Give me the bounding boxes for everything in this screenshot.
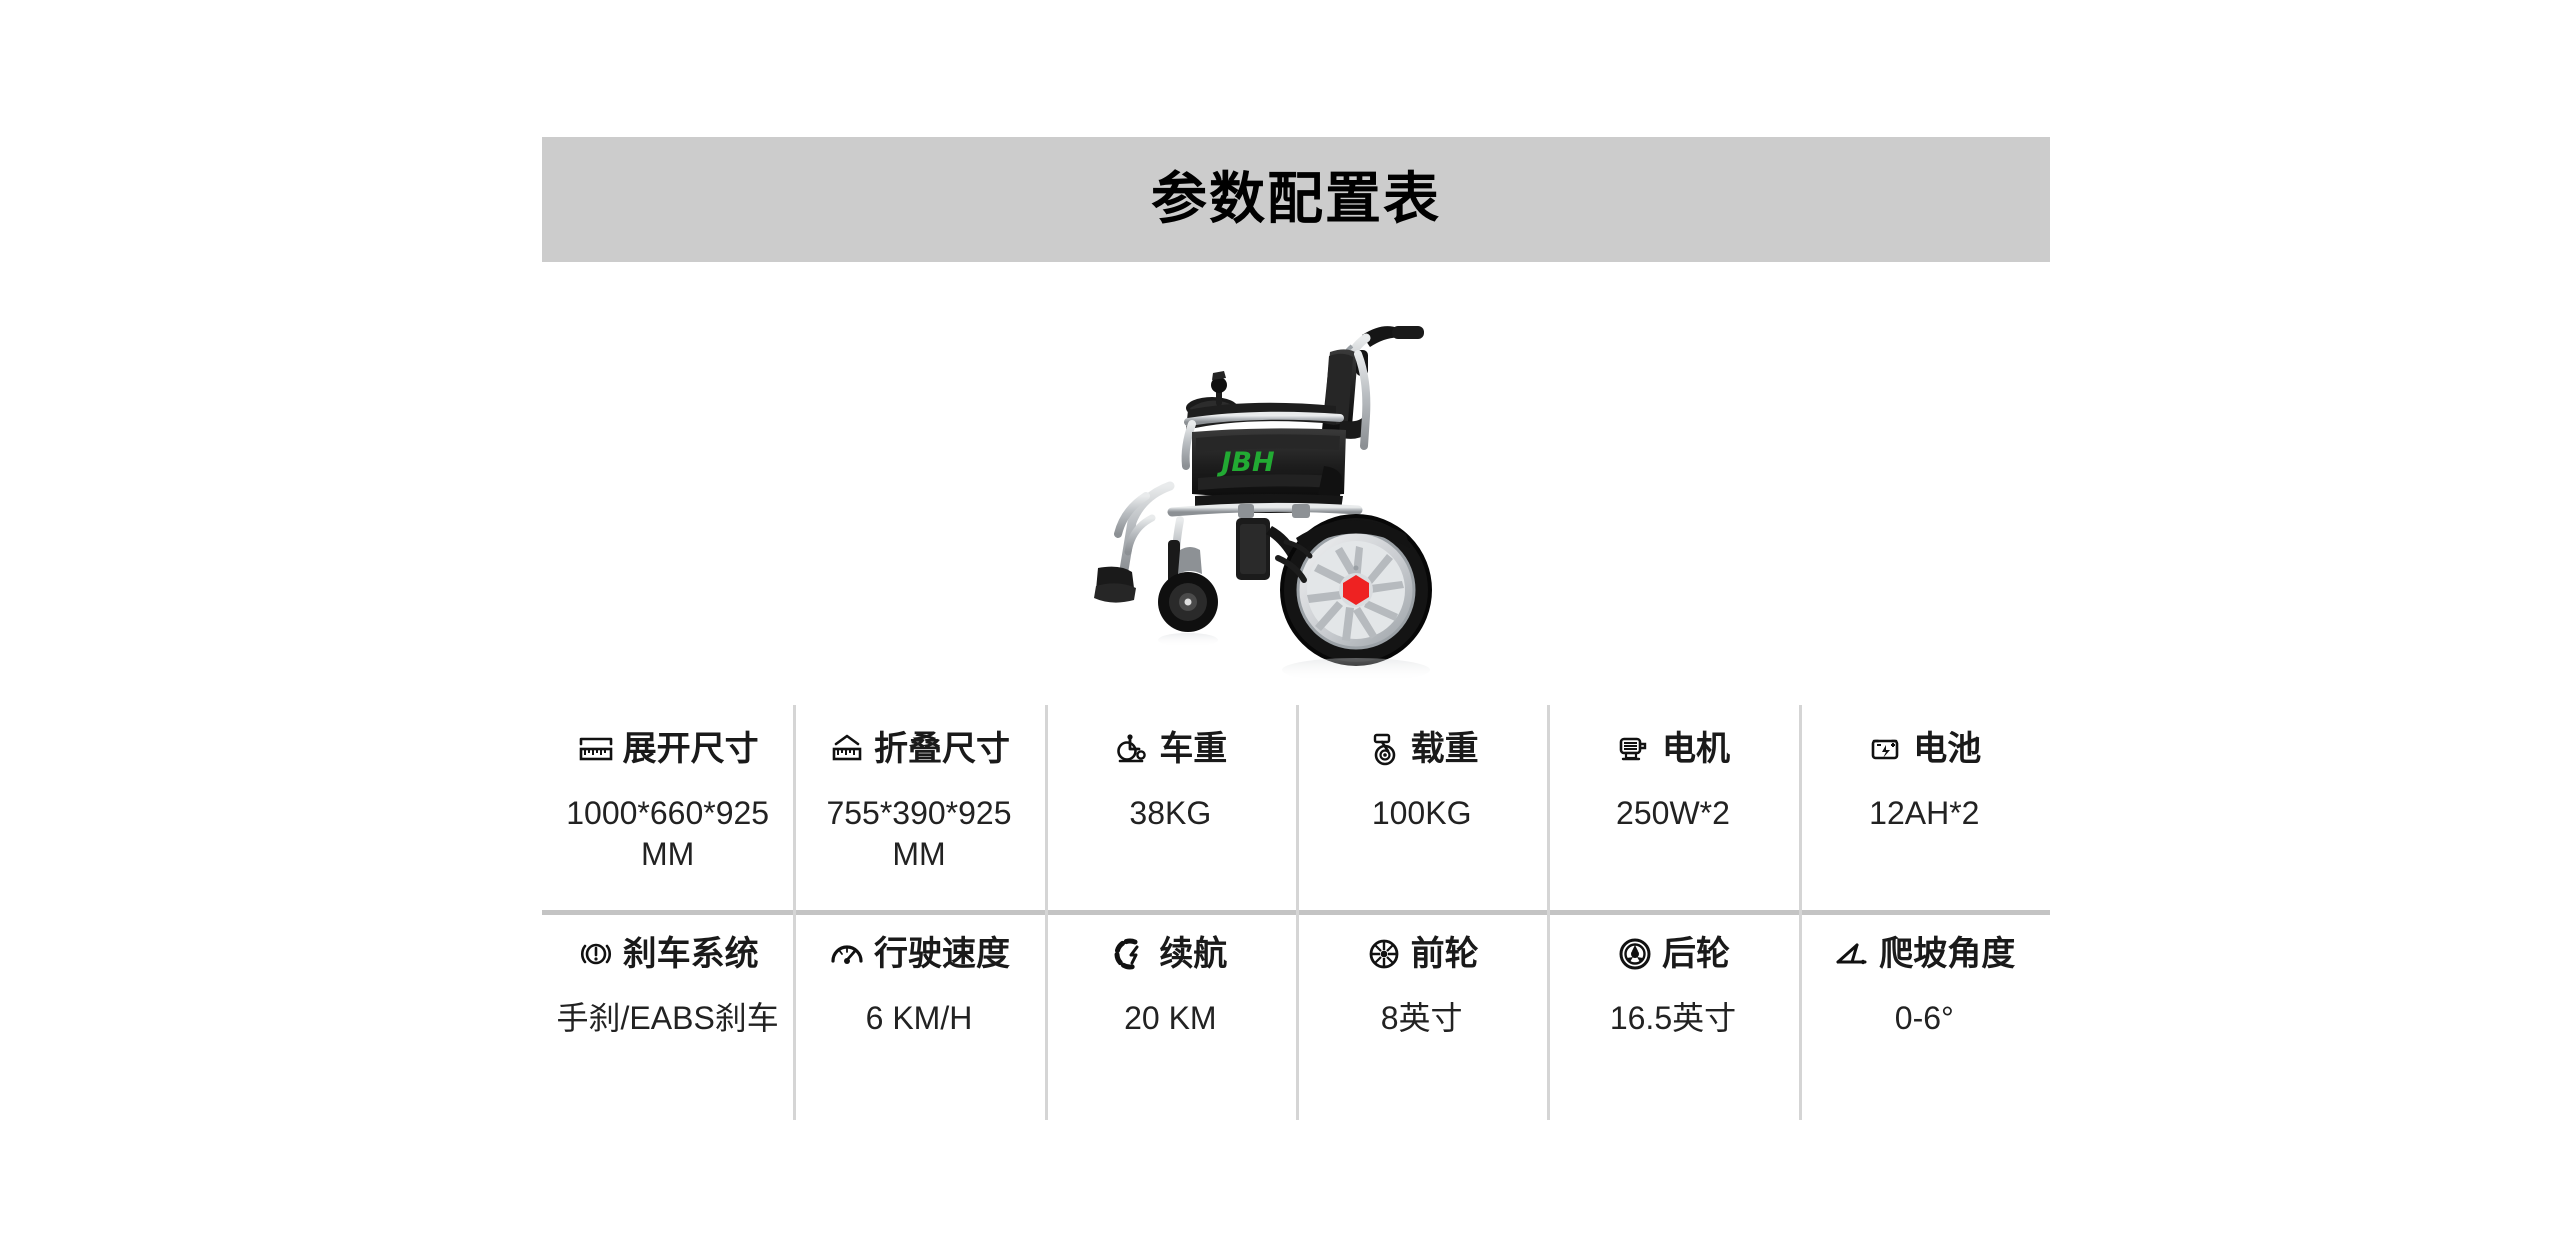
spec-head: 后轮 (1616, 932, 1730, 976)
spec-value: 250W*2 (1616, 793, 1730, 834)
spec-head: 电池 (1867, 727, 1981, 771)
spec-head: 车重 (1113, 727, 1227, 771)
spec-head: 展开尺寸 (577, 727, 759, 771)
spec-sheet-page: 参数配置表 (0, 0, 2560, 1239)
spec-value: 12AH*2 (1869, 793, 1979, 834)
spec-head: 爬坡角度 (1833, 932, 2015, 976)
spec-label: 行驶速度 (874, 937, 1010, 971)
spec-value: 手刹/EABS刹车 (557, 998, 779, 1039)
spec-cell-net-weight: 车重 38KG (1045, 705, 1296, 910)
spec-cell-unfolded-size: 展开尺寸 1000*660*925 MM (542, 705, 793, 910)
brake-warning-icon (577, 935, 615, 973)
spec-cell-front-wheel: 前轮 8英寸 (1296, 910, 1547, 1120)
spec-label: 电机 (1662, 732, 1730, 766)
spec-label: 电池 (1913, 732, 1981, 766)
spec-table: 展开尺寸 1000*660*925 MM 折叠尺寸 755*390*925 M (542, 705, 2050, 1120)
title-banner: 参数配置表 (542, 137, 2050, 262)
spec-label: 折叠尺寸 (874, 732, 1010, 766)
speedometer-icon (828, 935, 866, 973)
spec-head: 载重 (1365, 727, 1479, 771)
slope-angle-icon (1833, 935, 1871, 973)
spec-value: 0-6° (1895, 998, 1954, 1039)
spec-value: 16.5英寸 (1610, 998, 1736, 1039)
spec-label: 前轮 (1411, 937, 1479, 971)
spec-value: 20 KM (1124, 998, 1216, 1039)
spec-cell-battery: 电池 12AH*2 (1799, 705, 2050, 910)
spec-head: 行驶速度 (828, 932, 1010, 976)
spec-label: 爬坡角度 (1879, 937, 2015, 971)
spec-label: 续航 (1159, 937, 1227, 971)
spec-label: 车重 (1159, 732, 1227, 766)
spec-value: 100KG (1372, 793, 1472, 834)
spec-cell-climb-angle: 爬坡角度 0-6° (1799, 910, 2050, 1120)
spec-cell-range: 续航 20 KM (1045, 910, 1296, 1120)
spec-head: 续航 (1113, 932, 1227, 976)
spec-head: 电机 (1616, 727, 1730, 771)
spec-label: 后轮 (1662, 937, 1730, 971)
spec-value: 8英寸 (1381, 998, 1463, 1039)
spec-head: 折叠尺寸 (828, 727, 1010, 771)
spec-cell-speed: 行驶速度 6 KM/H (793, 910, 1044, 1120)
spec-cell-folded-size: 折叠尺寸 755*390*925 MM (793, 705, 1044, 910)
spec-label: 载重 (1411, 732, 1479, 766)
ruler-icon (577, 730, 615, 768)
front-wheel-icon (1365, 935, 1403, 973)
battery-range-icon (1113, 935, 1151, 973)
folded-ruler-icon (828, 730, 866, 768)
spec-row-2: 刹车系统 手刹/EABS刹车 行驶速度 6 KM (542, 910, 2050, 1120)
product-image: JBH (1040, 290, 1510, 690)
wheelchair-icon (1113, 730, 1151, 768)
motor-icon (1616, 730, 1654, 768)
spec-value: 6 KM/H (866, 998, 973, 1039)
spec-head: 前轮 (1365, 932, 1479, 976)
spec-cell-rear-wheel: 后轮 16.5英寸 (1547, 910, 1798, 1120)
spec-label: 刹车系统 (623, 937, 759, 971)
spec-value: 1000*660*925 MM (550, 793, 785, 875)
wheelchair-illustration: JBH (1040, 290, 1510, 690)
brand-logo-text: JBH (1216, 447, 1275, 478)
spec-value: 38KG (1129, 793, 1211, 834)
spec-label: 展开尺寸 (623, 732, 759, 766)
page-title: 参数配置表 (1151, 172, 1441, 228)
spec-cell-motor: 电机 250W*2 (1547, 705, 1798, 910)
spec-row-1: 展开尺寸 1000*660*925 MM 折叠尺寸 755*390*925 M (542, 705, 2050, 910)
spec-cell-load-capacity: 载重 100KG (1296, 705, 1547, 910)
caster-load-icon (1365, 730, 1403, 768)
rear-wheel-icon (1616, 935, 1654, 973)
spec-cell-brake-system: 刹车系统 手刹/EABS刹车 (542, 910, 793, 1120)
battery-icon (1867, 730, 1905, 768)
spec-value: 755*390*925 MM (801, 793, 1036, 875)
spec-head: 刹车系统 (577, 932, 759, 976)
